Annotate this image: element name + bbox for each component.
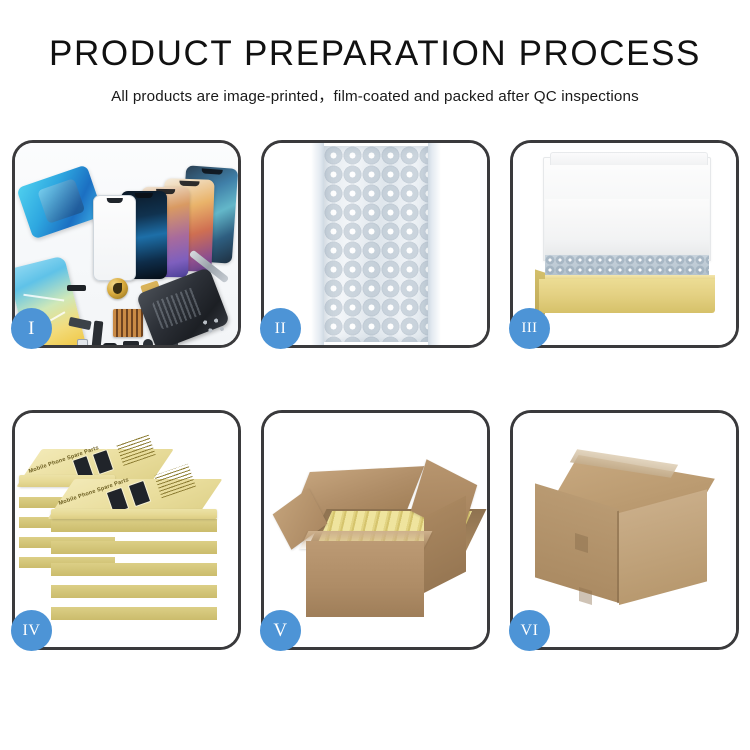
notch-icon bbox=[135, 193, 153, 198]
step-panel-3: III bbox=[510, 140, 739, 348]
step-panel-1: I bbox=[12, 140, 241, 348]
spare-part-icon bbox=[77, 339, 88, 345]
chip-grid-icon bbox=[113, 309, 143, 337]
screws-icon bbox=[200, 317, 226, 335]
step-badge-2: II bbox=[260, 308, 301, 349]
step-panel-4: Mobile Phone Spare Parts Mobile Phone Sp… bbox=[12, 410, 241, 650]
infographic-page: PRODUCT PREPARATION PROCESS All products… bbox=[0, 0, 750, 750]
carton-corner-seam bbox=[617, 511, 619, 604]
notch-icon bbox=[179, 181, 199, 187]
open-carton-icon bbox=[306, 541, 424, 617]
step-image-4: Mobile Phone Spare Parts Mobile Phone Sp… bbox=[15, 413, 238, 647]
retail-box-edge-2 bbox=[51, 509, 217, 519]
spare-part-icon bbox=[67, 285, 86, 291]
box-edge bbox=[51, 585, 217, 598]
step-badge-6: VI bbox=[509, 610, 550, 651]
step-badge-3: III bbox=[509, 308, 550, 349]
process-steps-grid: I II III bbox=[12, 140, 738, 650]
page-title: PRODUCT PREPARATION PROCESS bbox=[0, 34, 750, 73]
notch-icon bbox=[106, 198, 122, 203]
retail-box-stack: Mobile Phone Spare Parts Mobile Phone Sp… bbox=[15, 413, 238, 647]
header: PRODUCT PREPARATION PROCESS All products… bbox=[0, 0, 750, 106]
foam-sheet-icon bbox=[545, 199, 709, 257]
spare-part-icon bbox=[103, 343, 117, 345]
page-subtitle: All products are image-printed，film-coat… bbox=[0, 84, 750, 106]
notch-icon bbox=[201, 168, 222, 174]
step-badge-4: IV bbox=[11, 610, 52, 651]
box-edge bbox=[51, 563, 217, 576]
spare-part-icon bbox=[123, 341, 139, 345]
phone-screen-1 bbox=[93, 195, 136, 281]
step-panel-5: V bbox=[261, 410, 490, 650]
speaker-coil-icon bbox=[107, 278, 128, 299]
bubble-wrap-icon bbox=[324, 146, 428, 342]
box-edge bbox=[51, 607, 217, 620]
step-panel-6: VI bbox=[510, 410, 739, 650]
box-edge bbox=[51, 541, 217, 554]
spare-part-icon bbox=[143, 339, 153, 345]
step-image-6 bbox=[513, 413, 736, 647]
step-image-3 bbox=[513, 143, 736, 345]
step-image-5 bbox=[264, 413, 487, 647]
step-badge-1: I bbox=[11, 308, 52, 349]
step-badge-5: V bbox=[260, 610, 301, 651]
step-image-1 bbox=[15, 143, 238, 345]
step-panel-2: II bbox=[261, 140, 490, 348]
box-edge bbox=[51, 519, 217, 532]
kraft-inner-box-icon bbox=[539, 279, 715, 313]
step-image-2 bbox=[264, 143, 487, 345]
